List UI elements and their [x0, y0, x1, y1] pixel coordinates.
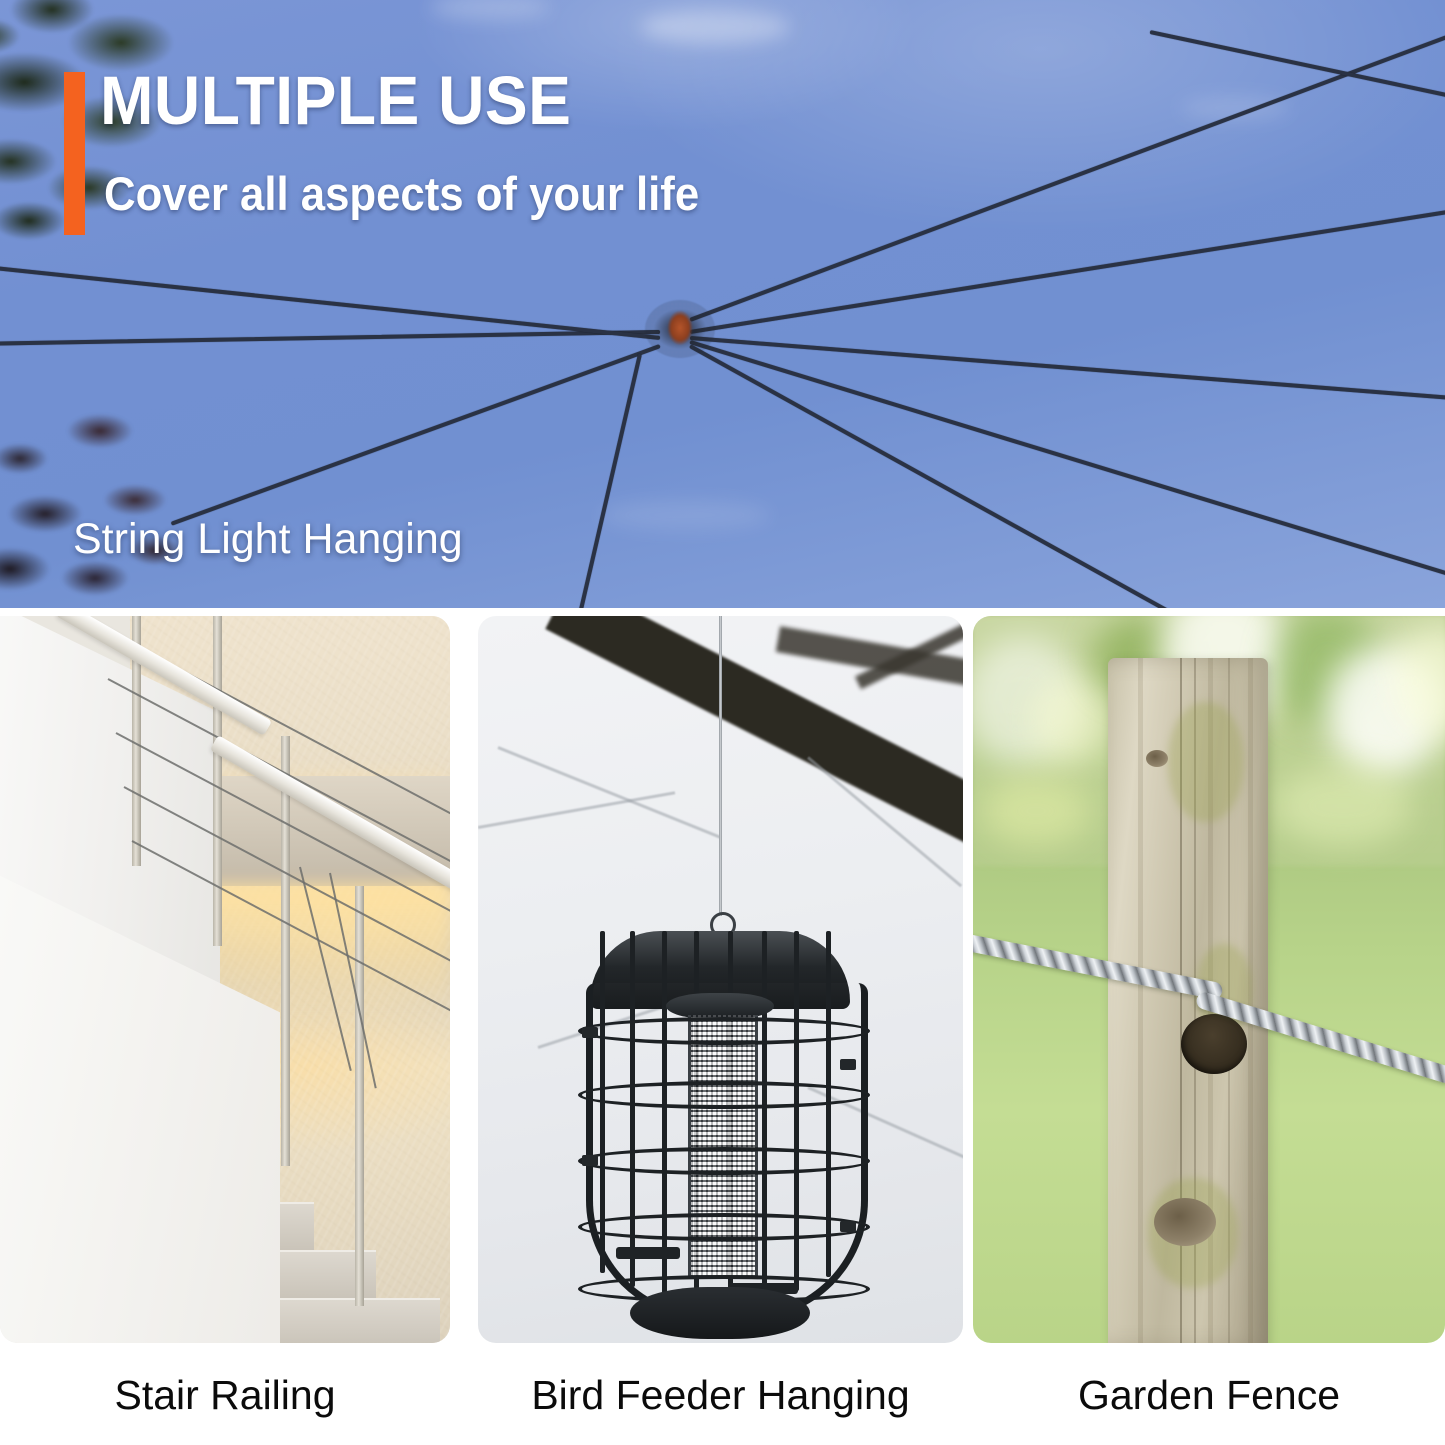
- light-bulb: [622, 312, 642, 356]
- railing-post: [281, 736, 290, 1166]
- wood-grain: [1138, 658, 1143, 1343]
- string-light-cable: [171, 344, 661, 526]
- cage-bar: [662, 931, 667, 1297]
- panel-bird-feeder: [478, 616, 963, 1343]
- light-bulb: [604, 518, 624, 562]
- bird-feeder-scene: [478, 616, 963, 1343]
- bokeh-light: [1273, 766, 1413, 846]
- string-light-cable: [690, 336, 1445, 403]
- stair-scene: [0, 616, 450, 1343]
- step: [260, 1298, 440, 1343]
- cloud-wisp: [600, 500, 770, 530]
- string-light-cable: [689, 340, 1445, 578]
- light-bulb: [190, 368, 210, 412]
- cage-ring: [578, 1147, 870, 1175]
- cable-junction-hub: [645, 300, 715, 358]
- hero-image: MULTIPLE USE Cover all aspects of your l…: [0, 0, 1445, 608]
- string-light-cable: [571, 354, 642, 608]
- cage-bar: [762, 931, 767, 1301]
- railing-post: [213, 616, 222, 946]
- string-light-cable: [690, 206, 1445, 334]
- light-bulb: [1186, 270, 1206, 314]
- light-bulb: [846, 534, 866, 578]
- string-light-cable: [689, 344, 1181, 608]
- pine-tree: [0, 0, 190, 300]
- use-case-panel-row: [0, 616, 1445, 1343]
- light-bulb: [1016, 246, 1036, 290]
- bokeh-light: [1031, 676, 1111, 766]
- light-bulb: [476, 452, 496, 496]
- cage-clip: [840, 1059, 856, 1070]
- light-bulb: [886, 288, 906, 332]
- light-bulb: [1184, 140, 1204, 184]
- bird-feeder: [538, 931, 902, 1331]
- feeder-base: [630, 1287, 810, 1339]
- light-bulb: [1386, 168, 1406, 212]
- cage-ring: [578, 1017, 870, 1045]
- bokeh-light: [981, 776, 1091, 846]
- cage-clip: [840, 1221, 856, 1232]
- light-bulb: [378, 366, 398, 410]
- light-bulb: [286, 364, 306, 408]
- string-light-cable: [689, 31, 1445, 322]
- light-bulb: [1288, 556, 1308, 600]
- light-bulb: [1026, 310, 1046, 354]
- light-bulb: [548, 344, 568, 388]
- marketing-image: MULTIPLE USE Cover all aspects of your l…: [0, 0, 1445, 1445]
- cage-clip: [582, 1027, 598, 1038]
- orange-accent-bar: [64, 72, 85, 235]
- hero-subheadline: Cover all aspects of your life: [104, 170, 699, 217]
- twig: [497, 746, 721, 839]
- light-bulb: [440, 340, 460, 384]
- feeder-perch: [616, 1247, 680, 1259]
- light-bulb: [1108, 520, 1128, 564]
- garden-fence-scene: [973, 616, 1445, 1343]
- wood-knot: [1154, 1198, 1216, 1246]
- railing-post: [355, 886, 364, 1306]
- foliage-bush: [0, 408, 220, 608]
- light-bulb: [742, 330, 762, 374]
- moss-patch: [1168, 702, 1244, 822]
- hero-headline: MULTIPLE USE: [100, 66, 571, 135]
- panel-stair-railing: [0, 616, 450, 1343]
- cage-ring: [578, 1081, 870, 1109]
- wood-knot: [1146, 750, 1168, 767]
- light-bulb: [1368, 32, 1388, 76]
- cloud-wisp: [430, 0, 550, 20]
- cage-clip: [582, 1155, 598, 1166]
- panel-garden-fence: [973, 616, 1445, 1343]
- hero-caption: String Light Hanging: [73, 518, 463, 561]
- light-bulb: [96, 362, 116, 406]
- panel-caption-bird-feeder: Bird Feeder Hanging: [478, 1372, 963, 1419]
- wooden-fence-post: [1108, 658, 1268, 1343]
- drilled-hole: [1181, 1014, 1247, 1074]
- cloud-wisp: [640, 10, 790, 44]
- twig: [478, 791, 675, 829]
- light-bulb: [938, 444, 958, 488]
- light-bulb: [782, 366, 802, 410]
- cage-ring: [578, 1213, 870, 1241]
- panel-caption-stair-railing: Stair Railing: [0, 1372, 450, 1419]
- hanging-wire: [719, 616, 722, 916]
- panel-caption-garden-fence: Garden Fence: [973, 1372, 1445, 1419]
